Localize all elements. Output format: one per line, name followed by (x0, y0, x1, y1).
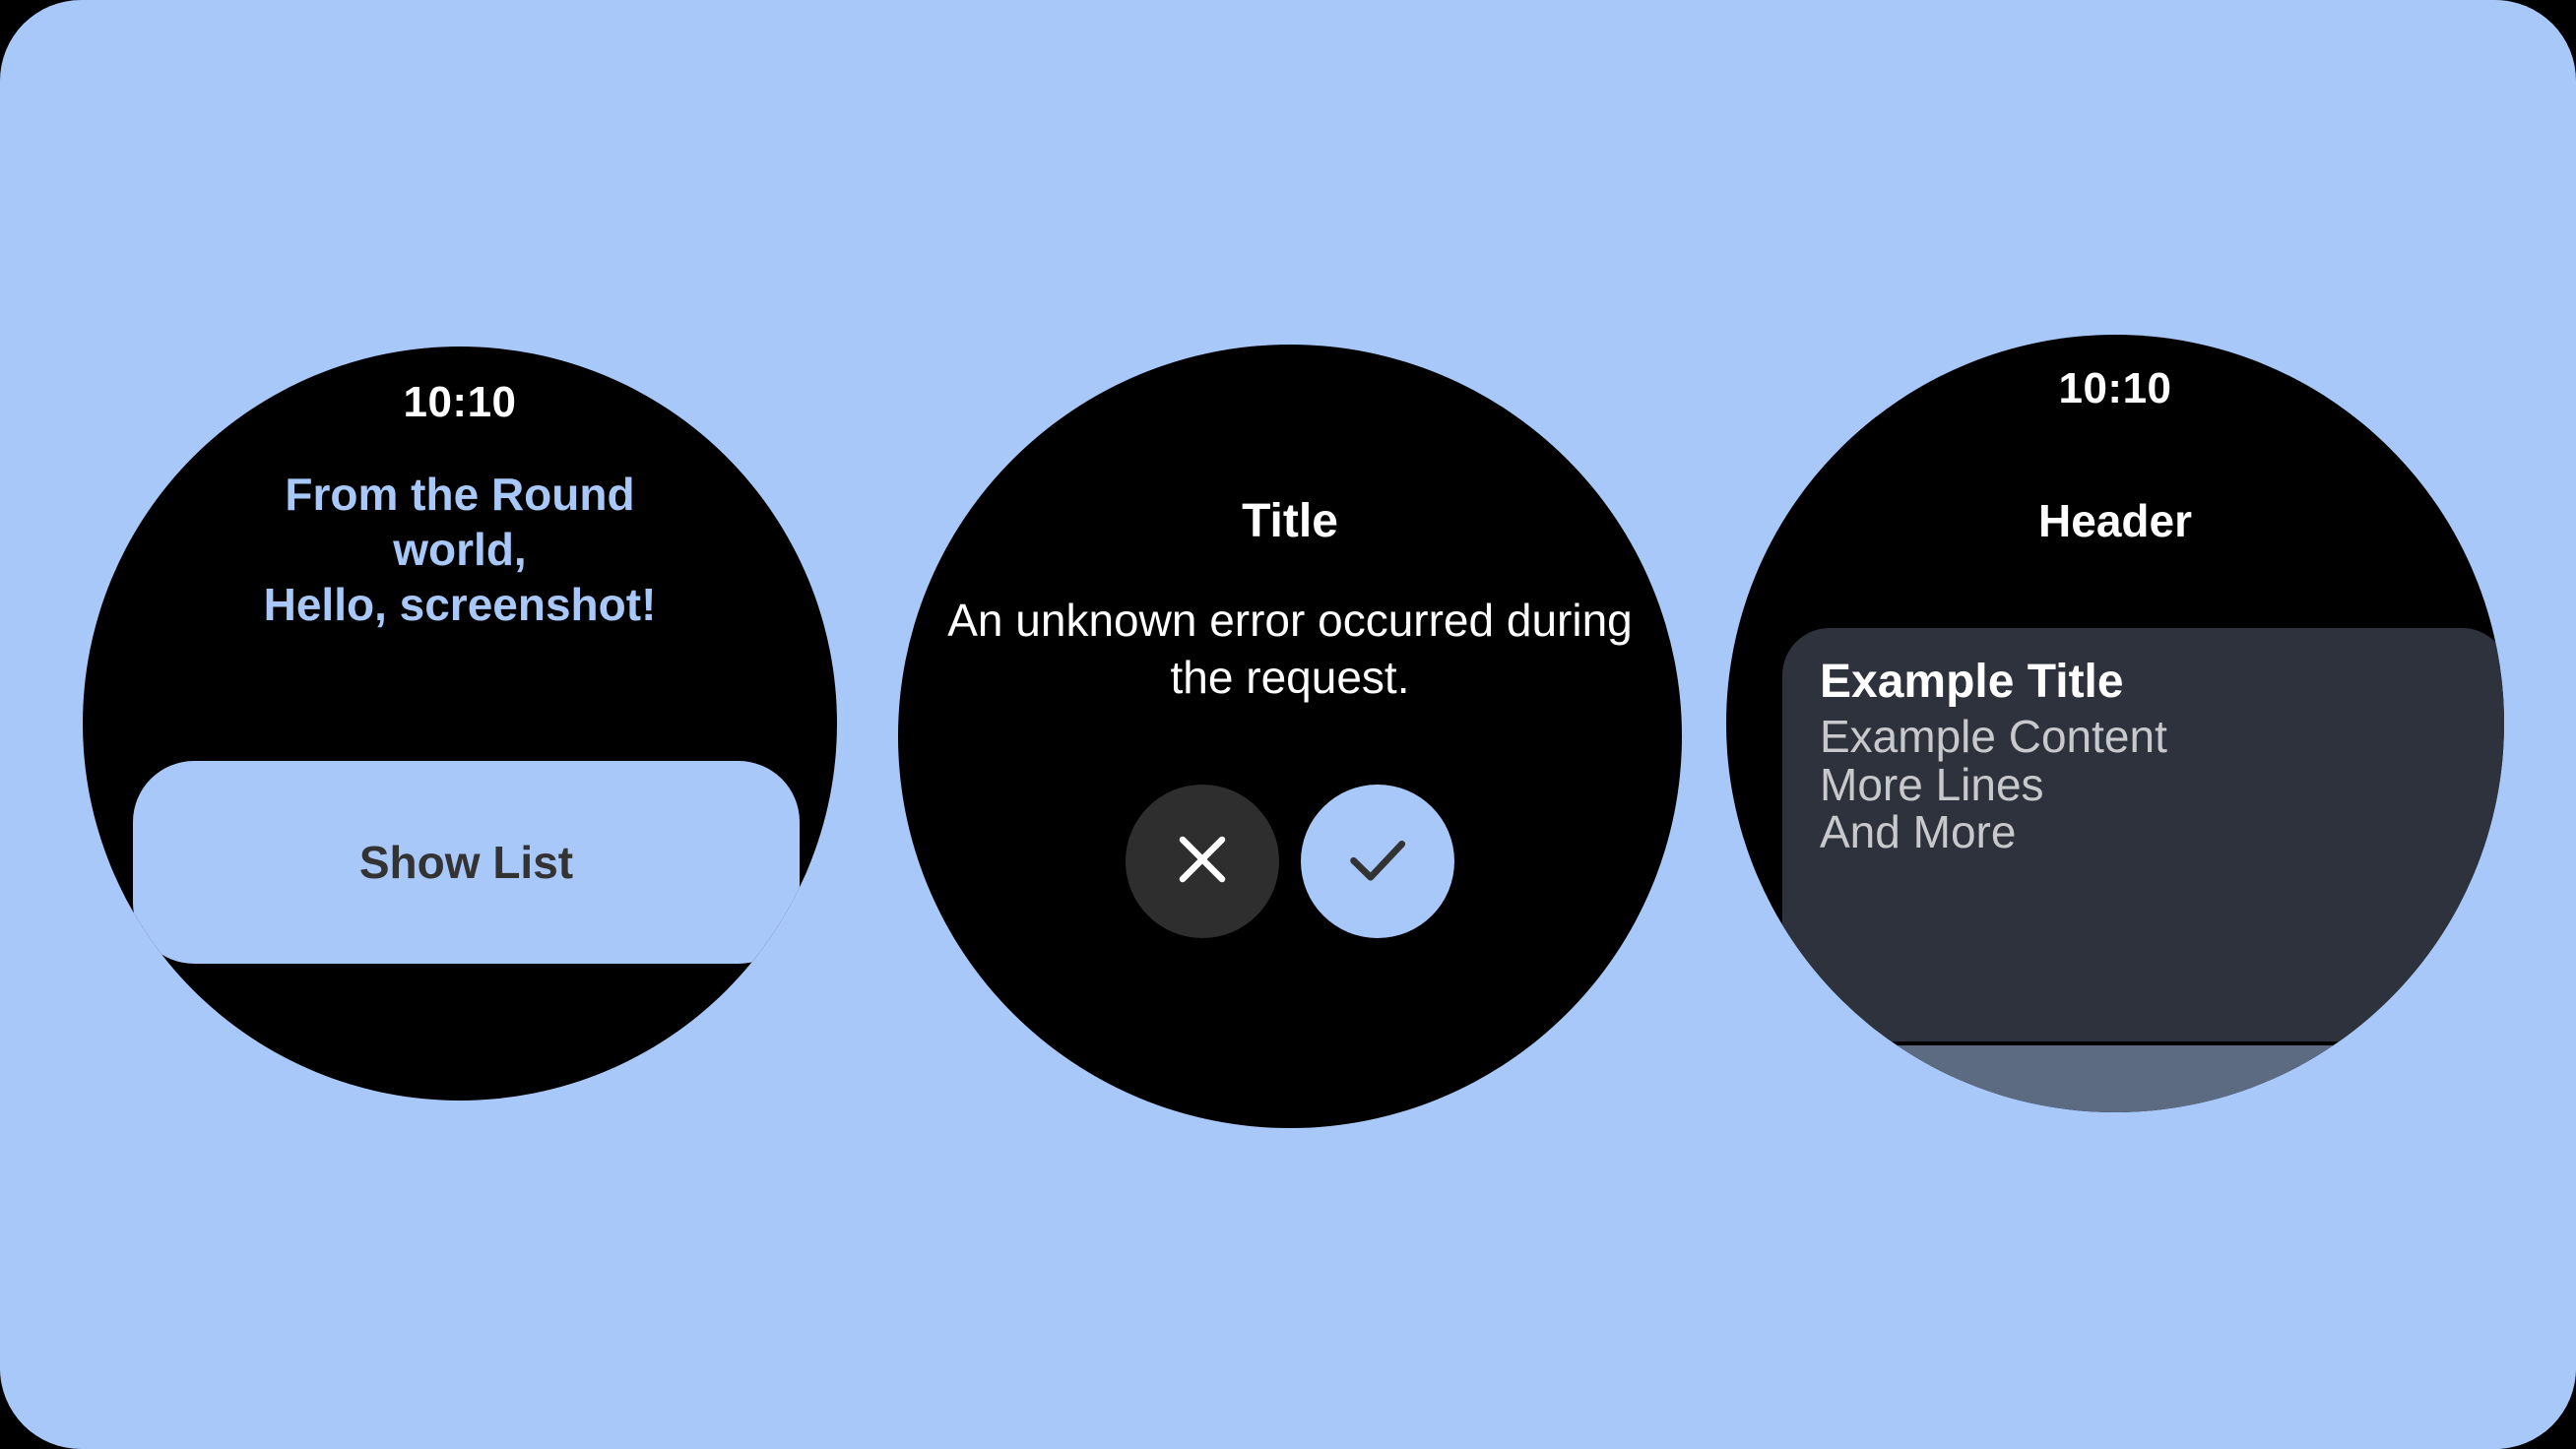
dialog-title: Title (898, 494, 1682, 548)
close-icon (1166, 823, 1239, 901)
status-time: 10:10 (1726, 364, 2504, 413)
list-item-title: Example Title (1820, 658, 2472, 707)
greeting-line-3: Hello, screenshot! (134, 577, 786, 632)
dismiss-button[interactable] (1126, 785, 1279, 938)
check-icon (1339, 821, 1416, 903)
status-time: 10:10 (83, 378, 837, 427)
list-header: Header (1726, 494, 2504, 547)
watch-preview-hello: 10:10 From the Round world, Hello, scree… (83, 346, 837, 1101)
greeting-line-1: From the Round (134, 467, 786, 522)
dialog-message: An unknown error occurred during the req… (924, 593, 1656, 707)
watch-preview-dialog: Title An unknown error occurred during t… (898, 345, 1682, 1128)
screenshot-canvas: 10:10 From the Round world, Hello, scree… (0, 0, 2576, 1449)
list-item-line-3: And More (1820, 808, 2472, 855)
show-list-button[interactable]: Show List (133, 761, 800, 964)
dialog-action-row (898, 785, 1682, 938)
list-item[interactable]: Example Title Example Content More Lines… (1782, 628, 2504, 1041)
greeting-text: From the Round world, Hello, screenshot! (134, 467, 786, 632)
list-item-line-2: More Lines (1820, 761, 2472, 808)
watch-preview-list: 10:10 Header Example Title Example Conte… (1726, 335, 2504, 1112)
greeting-line-2: world, (134, 522, 786, 577)
show-list-button-label: Show List (359, 836, 573, 889)
confirm-button[interactable] (1301, 785, 1454, 938)
list-item-line-1: Example Content (1820, 713, 2472, 760)
scroll-indicator[interactable] (1726, 1045, 2504, 1112)
